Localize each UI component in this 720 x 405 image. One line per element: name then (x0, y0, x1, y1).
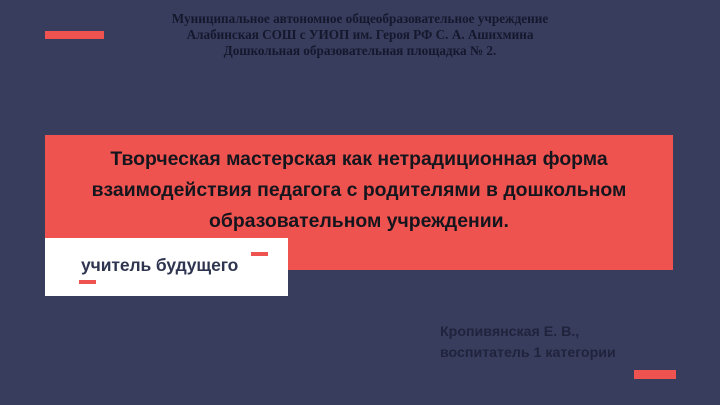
logo-card: учитель будущего (45, 238, 288, 296)
organization-header: Муниципальное автономное общеобразовател… (120, 11, 600, 60)
logo-dash-bottom-left-icon (79, 280, 96, 284)
title-line-2: взаимодействия педагога с родителями в д… (59, 175, 659, 206)
organization-line-2: Алабинская СОШ с УИОП им. Героя РФ С. А.… (120, 27, 600, 43)
organization-line-3: Дошкольная образовательная площадка № 2. (120, 43, 600, 59)
title-line-3: образовательном учреждении. (59, 206, 659, 237)
author-name: Кропивянская Е. В., (440, 322, 690, 343)
page-title: Творческая мастерская как нетрадиционная… (59, 144, 659, 237)
decorative-bar-bottom-right (634, 370, 676, 379)
presentation-slide: Муниципальное автономное общеобразовател… (0, 0, 720, 405)
author-position: воспитатель 1 категории (440, 343, 690, 364)
decorative-bar-top-left (45, 31, 104, 39)
logo-mark: учитель будущего (67, 248, 277, 286)
logo-text: учитель будущего (81, 255, 238, 276)
logo-dash-top-right-icon (251, 252, 268, 256)
organization-line-1: Муниципальное автономное общеобразовател… (120, 11, 600, 27)
author-credit: Кропивянская Е. В., воспитатель 1 катего… (440, 322, 690, 364)
title-line-1: Творческая мастерская как нетрадиционная… (59, 144, 659, 175)
